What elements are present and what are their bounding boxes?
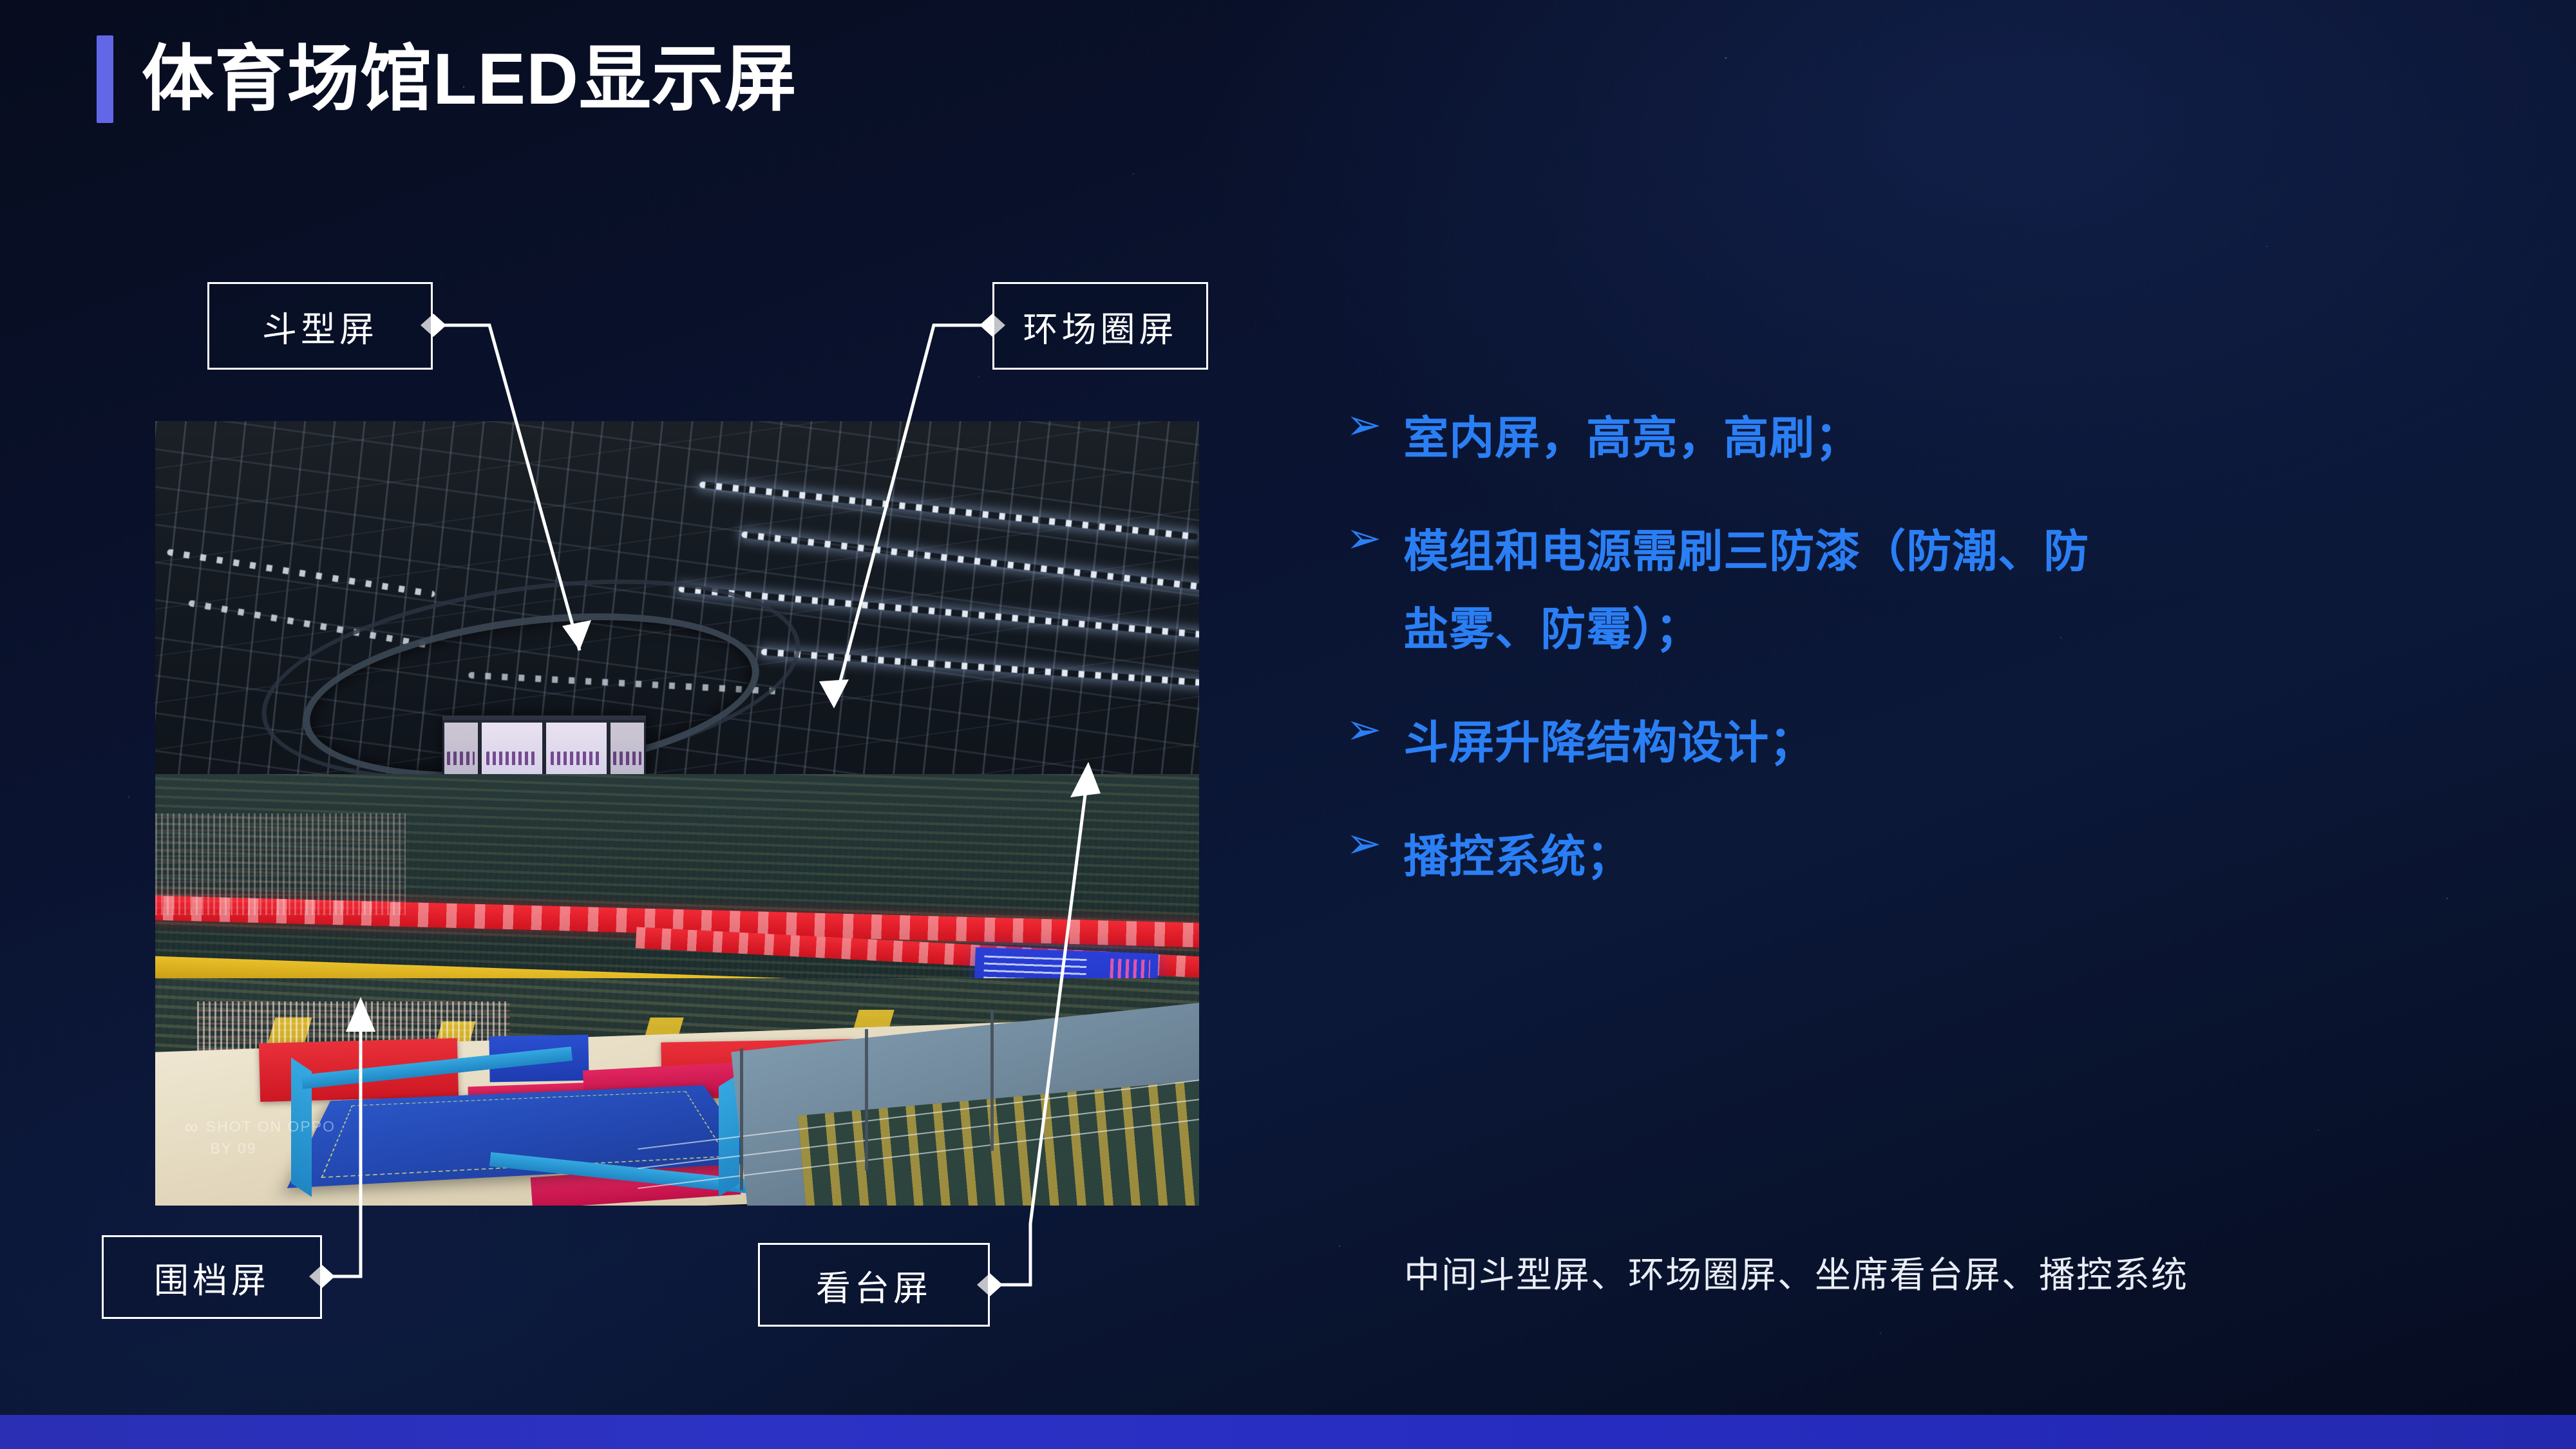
- slide-canvas: 体育场馆LED显示屏: [0, 0, 2576, 1449]
- bullet-text: 播控系统；: [1403, 818, 1632, 895]
- callout-box-dou-xing-ping[interactable]: 斗型屏: [207, 282, 433, 370]
- photo-guardrail-post: [990, 1010, 994, 1151]
- callout-label-kan-tai-ping: 看台屏: [816, 1260, 932, 1311]
- bullet-arrow-icon: ➢: [1346, 818, 1381, 870]
- slide-bottom-bar: [0, 1415, 2576, 1449]
- photo-caption: 中间斗型屏、环场圈屏、坐席看台屏、播控系统: [1404, 1246, 2188, 1298]
- bullet-text: 盐雾、防霉）；: [1403, 591, 1701, 668]
- callout-box-kan-tai-ping[interactable]: 看台屏: [758, 1243, 990, 1327]
- bullet-arrow-icon: ➢: [1346, 399, 1381, 451]
- feature-bullet-list: ➢ 室内屏，高亮，高刷； ➢ 模组和电源需刷三防漆（防潮、防 ➢ 盐雾、防霉）；…: [1346, 399, 2479, 931]
- bullet-arrow-icon: ➢: [1346, 704, 1381, 756]
- page-title: 体育场馆LED显示屏: [142, 43, 797, 115]
- title-row: 体育场馆LED显示屏: [97, 35, 797, 123]
- callout-label-huan-chang-quan-ping: 环场圈屏: [1023, 301, 1178, 352]
- bullet-item: ➢ 播控系统；: [1346, 818, 2479, 895]
- bullet-text: 室内屏，高亮，高刷；: [1403, 399, 1861, 477]
- title-accent-bar: [97, 35, 113, 123]
- callout-box-huan-chang-quan-ping[interactable]: 环场圈屏: [992, 282, 1208, 370]
- bullet-item: ➢ 室内屏，高亮，高刷；: [1346, 399, 2479, 477]
- callout-box-wei-dang-ping[interactable]: 围档屏: [102, 1235, 322, 1319]
- photo-guardrail-post: [865, 1029, 868, 1170]
- bullet-item: ➢ 斗屏升降结构设计；: [1346, 704, 2479, 781]
- photo-guardrail-post: [740, 1048, 743, 1189]
- callout-label-dou-xing-ping: 斗型屏: [262, 301, 378, 352]
- bullet-item-continuation: ➢ 盐雾、防霉）；: [1346, 591, 2479, 668]
- callout-label-wei-dang-ping: 围档屏: [154, 1252, 270, 1303]
- bullet-text: 模组和电源需刷三防漆（防潮、防: [1403, 513, 2089, 590]
- arena-photo: ∞SHOT ON OPPO BY 09: [155, 421, 1199, 1206]
- photo-crowd: [155, 813, 406, 915]
- bullet-arrow-icon: ➢: [1346, 513, 1381, 565]
- bullet-item: ➢ 模组和电源需刷三防漆（防潮、防: [1346, 513, 2479, 590]
- bullet-text: 斗屏升降结构设计；: [1403, 704, 1815, 781]
